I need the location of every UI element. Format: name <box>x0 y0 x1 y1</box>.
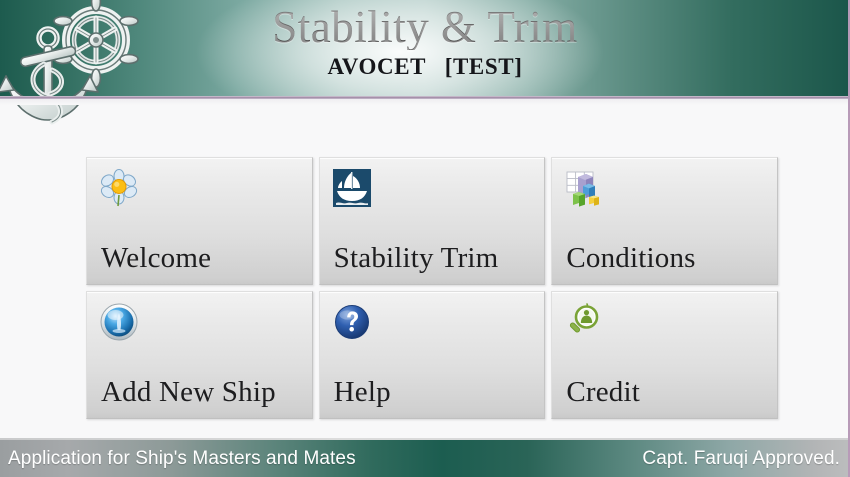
tile-welcome[interactable]: Welcome <box>86 157 313 285</box>
status-bar-left-text: Application for Ship's Masters and Mates <box>8 448 356 470</box>
tile-label-add-new-ship: Add New Ship <box>101 376 276 409</box>
3d-bar-chart-icon <box>564 168 604 208</box>
magnifier-person-icon <box>564 302 604 342</box>
tile-label-welcome: Welcome <box>101 242 211 275</box>
menu-tile-grid: Welcome <box>86 157 778 419</box>
tile-credit[interactable]: Credit <box>551 291 778 419</box>
tile-stability-trim[interactable]: Stability Trim <box>319 157 546 285</box>
app-header: Stability & Trim AVOCET [TEST] <box>0 0 850 98</box>
tile-help[interactable]: Help <box>319 291 546 419</box>
question-mark-circle-icon <box>332 302 372 342</box>
status-bar-right-text: Capt. Faruqi Approved. <box>642 448 840 470</box>
header-underglow <box>0 99 850 105</box>
blue-orb-icon <box>99 302 139 342</box>
tile-add-new-ship[interactable]: Add New Ship <box>86 291 313 419</box>
sailing-ship-icon <box>332 168 372 208</box>
application-window: Stability & Trim AVOCET [TEST] <box>0 0 850 477</box>
status-bar: Application for Ship's Masters and Mates… <box>0 440 850 477</box>
tile-label-conditions: Conditions <box>566 242 695 275</box>
status-bar-content: Application for Ship's Masters and Mates… <box>0 440 850 477</box>
page-title: Stability & Trim <box>0 0 850 50</box>
tile-label-stability-trim: Stability Trim <box>334 242 499 275</box>
header-title-block: Stability & Trim AVOCET [TEST] <box>0 0 850 98</box>
tile-conditions[interactable]: Conditions <box>551 157 778 285</box>
tile-label-help: Help <box>334 376 391 409</box>
page-subtitle: AVOCET [TEST] <box>0 54 850 80</box>
tile-label-credit: Credit <box>566 376 640 409</box>
flower-daisy-icon <box>99 168 139 208</box>
